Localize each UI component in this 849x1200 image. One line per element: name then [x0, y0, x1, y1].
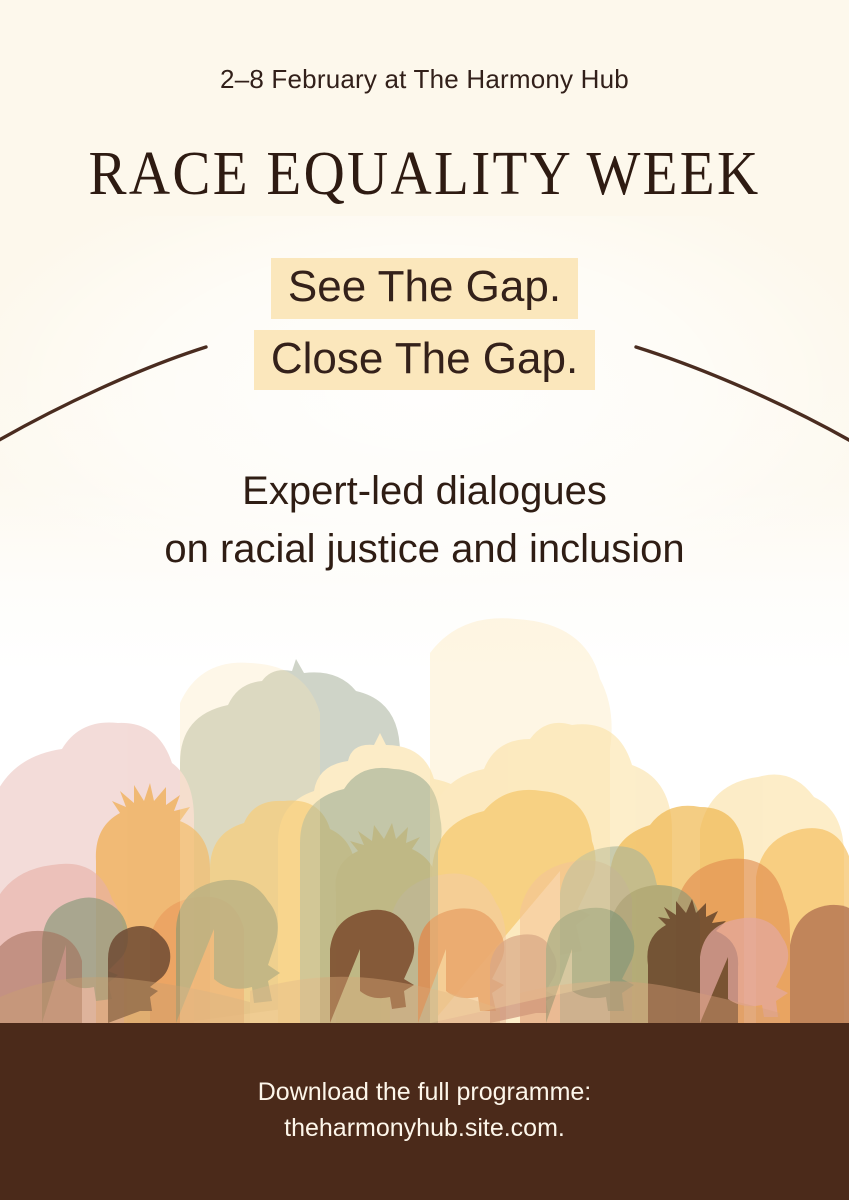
slogan-group: See The Gap. Close The Gap. — [0, 258, 849, 401]
slogan-line-2: Close The Gap. — [0, 330, 849, 391]
footer-cta: Download the full programme: theharmonyh… — [0, 1075, 849, 1146]
footer-cta-line-1: Download the full programme: — [0, 1075, 849, 1111]
slogan-line-1: See The Gap. — [0, 258, 849, 319]
footer-bar: Download the full programme: theharmonyh… — [0, 1023, 849, 1200]
event-description: Expert-led dialogues on racial justice a… — [0, 462, 849, 579]
event-dates-venue: 2–8 February at The Harmony Hub — [0, 64, 849, 95]
page-title: RACE EQUALITY WEEK — [34, 143, 815, 205]
event-description-line-1: Expert-led dialogues — [0, 462, 849, 520]
poster-canvas: 2–8 February at The Harmony Hub RACE EQU… — [0, 0, 849, 1200]
crowd-silhouette-illustration — [0, 593, 849, 1023]
slogan-highlight-2: Close The Gap. — [254, 330, 595, 391]
footer-website-url[interactable]: theharmonyhub.site.com. — [0, 1111, 849, 1147]
slogan-highlight-1: See The Gap. — [271, 258, 578, 319]
event-description-line-2: on racial justice and inclusion — [0, 520, 849, 578]
